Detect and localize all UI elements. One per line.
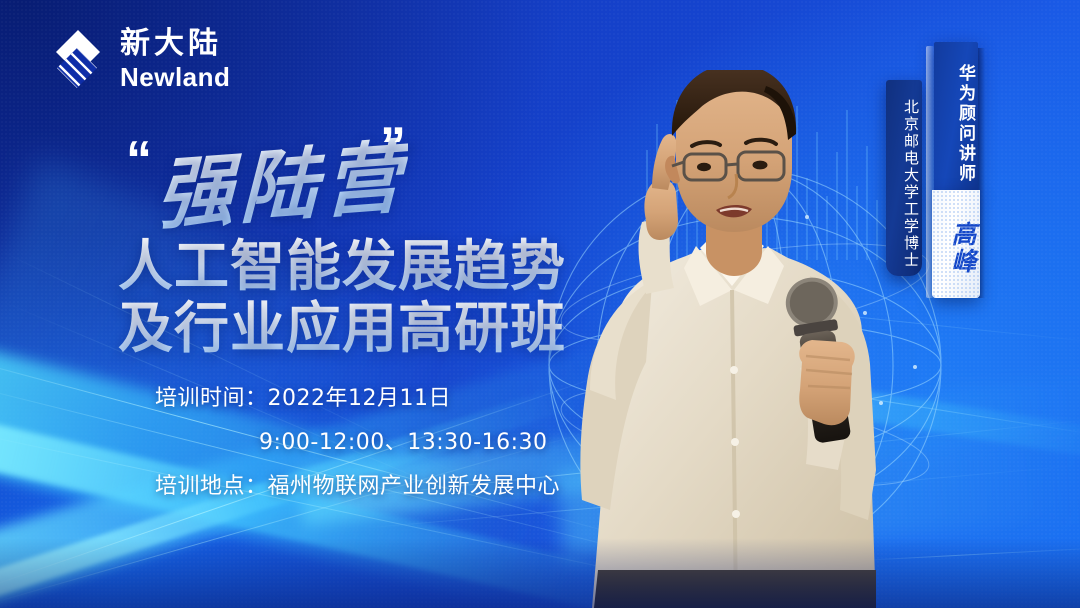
bottom-fade-overlay [0, 538, 1080, 608]
ribbon-credential: 北京邮电大学工学博士 [886, 80, 922, 276]
poster-canvas: 新大陆 Newland “ 强陆营 ” 人工智能发展趋势 及行业应用高研班 培训… [0, 0, 1080, 608]
ribbon-speaker-name: 高峰 [932, 190, 980, 298]
diamond-logo-icon [48, 28, 106, 90]
ribbon-speaker-title-text: 华为顾问讲师 [953, 64, 978, 184]
ribbon-credential-text: 北京邮电大学工学博士 [901, 99, 922, 269]
ribbon-speaker-title: 华为顾问讲师 [934, 42, 978, 192]
logo-text-en: Newland [120, 64, 230, 90]
quote-close-mark: ” [380, 120, 406, 172]
brush-title: 强陆营 [156, 115, 409, 246]
newland-logo[interactable]: 新大陆 Newland [48, 28, 230, 90]
training-time-label: 培训时间： [155, 388, 268, 410]
logo-text-cn: 新大陆 [120, 29, 230, 59]
speaker-ribbons: 北京邮电大学工学博士 华为顾问讲师 高峰 [882, 28, 1002, 298]
training-place-label: 培训地点： [155, 476, 268, 498]
quote-open-mark: “ [126, 134, 152, 186]
ribbon-speaker-name-text: 高峰 [944, 221, 980, 275]
training-time-value: 2022年12月11日 [268, 388, 451, 410]
